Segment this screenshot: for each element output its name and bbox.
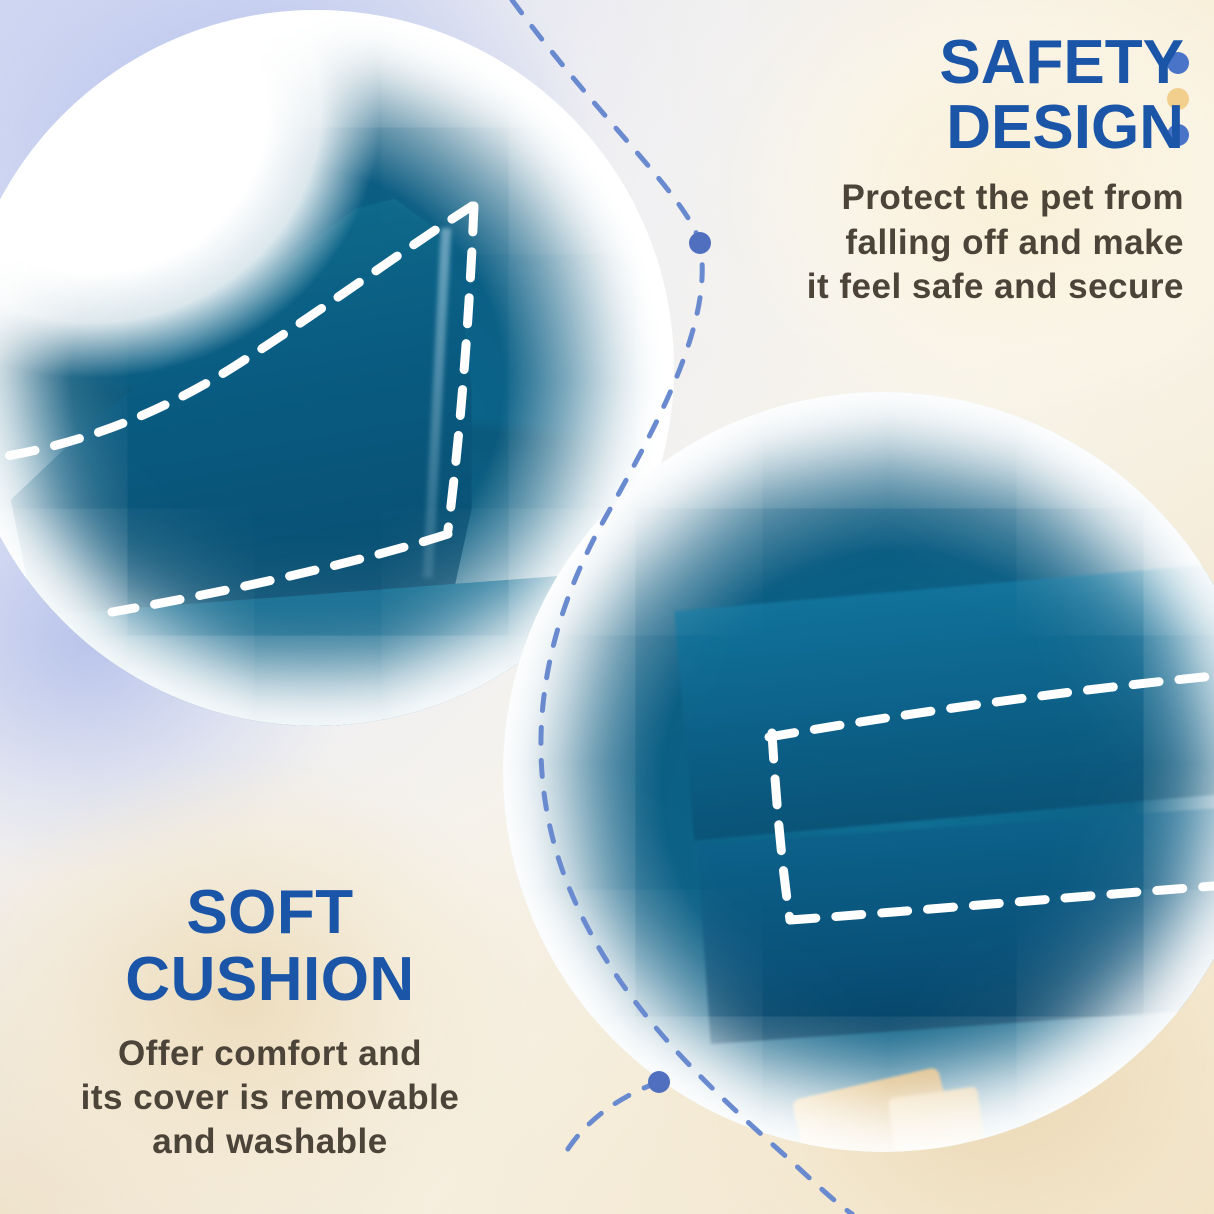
safety-design-title: SAFETY DESIGN <box>714 30 1184 160</box>
connector-node-top <box>689 232 711 254</box>
feature-block-safety-design: SAFETY DESIGN Protect the pet from falli… <box>714 30 1184 310</box>
soft-cushion-title-line-1: SOFT <box>20 880 520 947</box>
safety-design-description: Protect the pet from falling off and mak… <box>714 176 1184 309</box>
safety-design-desc-line-3: it feel safe and secure <box>714 265 1184 309</box>
safety-design-title-line-2: DESIGN <box>714 95 1184 160</box>
soft-cushion-desc-line-2: its cover is removable <box>20 1076 520 1120</box>
feature-block-soft-cushion: SOFT CUSHION Offer comfort and its cover… <box>20 880 520 1164</box>
safety-design-title-line-1: SAFETY <box>714 30 1184 95</box>
soft-cushion-title: SOFT CUSHION <box>20 880 520 1014</box>
safety-design-desc-line-2: falling off and make <box>714 221 1184 265</box>
connector-node-bottom <box>648 1071 670 1093</box>
soft-cushion-title-line-2: CUSHION <box>20 947 520 1014</box>
soft-cushion-desc-line-1: Offer comfort and <box>20 1032 520 1076</box>
wooden-leg-secondary <box>888 1086 992 1152</box>
infographic-canvas: SAFETY DESIGN Protect the pet from falli… <box>0 0 1214 1214</box>
photo-white-corner <box>0 10 428 430</box>
safety-design-desc-line-1: Protect the pet from <box>714 176 1184 220</box>
soft-cushion-desc-line-3: and washable <box>20 1120 520 1164</box>
soft-cushion-description: Offer comfort and its cover is removable… <box>20 1032 520 1164</box>
